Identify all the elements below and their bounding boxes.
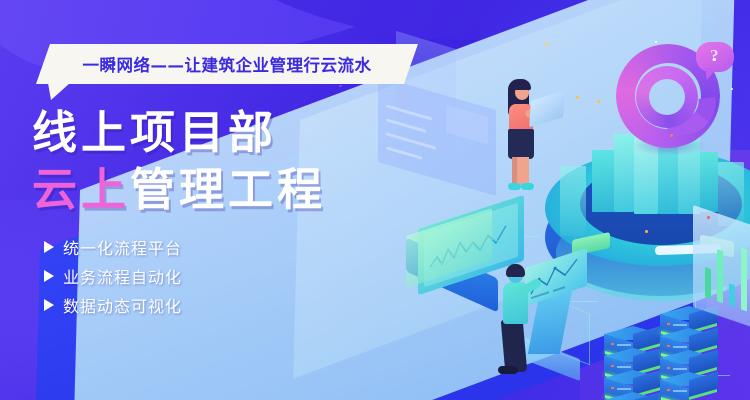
list-item: 统一化流程平台 — [44, 234, 182, 260]
triangle-bullet-icon — [44, 270, 54, 282]
chart-bar — [741, 247, 747, 311]
triangle-bullet-icon — [44, 299, 54, 311]
woman-hair-front — [512, 79, 531, 90]
feature-bullet-list: 统一化流程平台 业务流程自动化 数据动态可视化 — [44, 234, 182, 321]
woman-shoe — [508, 183, 521, 190]
sparkle-dot — [713, 58, 716, 61]
headline-rest-text: 管理工程 — [130, 163, 326, 216]
question-mark-icon: ? — [710, 46, 719, 66]
crystal-tower-glass — [560, 166, 586, 236]
chart-bar — [729, 283, 735, 307]
sparkle-dot — [597, 100, 600, 103]
chart-bar — [717, 249, 723, 303]
man-hair — [506, 264, 525, 277]
triangle-bullet-icon — [44, 241, 54, 253]
server-unit — [660, 372, 718, 400]
promo-banner: ? — [0, 0, 750, 400]
e-logo-inner-ring — [636, 66, 698, 128]
server-unit — [604, 392, 662, 400]
man-legs — [501, 320, 528, 372]
sparkle-dot — [545, 43, 548, 46]
bullet-label: 统一化流程平台 — [63, 235, 182, 259]
tagline-ribbon-tail — [48, 83, 70, 100]
tagline-ribbon: 一瞬网络——让建筑企业管理行云流水 — [36, 44, 418, 84]
headline-line-1: 线上项目部 — [32, 104, 326, 161]
crystal-tower — [592, 150, 614, 212]
list-item: 业务流程自动化 — [44, 263, 182, 289]
bullet-label: 业务流程自动化 — [63, 264, 182, 288]
chart-bar — [705, 267, 711, 299]
woman-leg-shadow — [512, 157, 517, 185]
sparkle-dot — [655, 41, 657, 43]
text-content-zone: 一瞬网络——让建筑企业管理行云流水 线上项目部 云上管理工程 统一化流程平台 业… — [0, 0, 430, 400]
list-item: 数据动态可视化 — [44, 292, 182, 318]
tagline-text: 一瞬网络——让建筑企业管理行云流水 — [36, 44, 418, 84]
crystal-tower — [700, 152, 718, 212]
bullet-label: 数据动态可视化 — [63, 293, 182, 317]
woman-skirt — [508, 129, 534, 159]
sparkle-dot — [707, 216, 710, 219]
headline-block: 线上项目部 云上管理工程 — [32, 104, 326, 218]
sparkle-dot — [645, 230, 648, 233]
question-speech-bubble: ? — [696, 42, 734, 72]
headline-accent-text: 云上 — [32, 163, 130, 216]
document-thumbnail — [446, 105, 488, 145]
e-logo-swirl: ? — [608, 38, 728, 156]
sparkle-dot — [576, 96, 579, 99]
headline-line-2: 云上管理工程 — [32, 161, 326, 218]
woman-shoe — [521, 183, 534, 190]
man-shoe — [498, 366, 518, 374]
sparkle-dot — [670, 134, 673, 137]
sparkle-dot — [731, 88, 733, 90]
